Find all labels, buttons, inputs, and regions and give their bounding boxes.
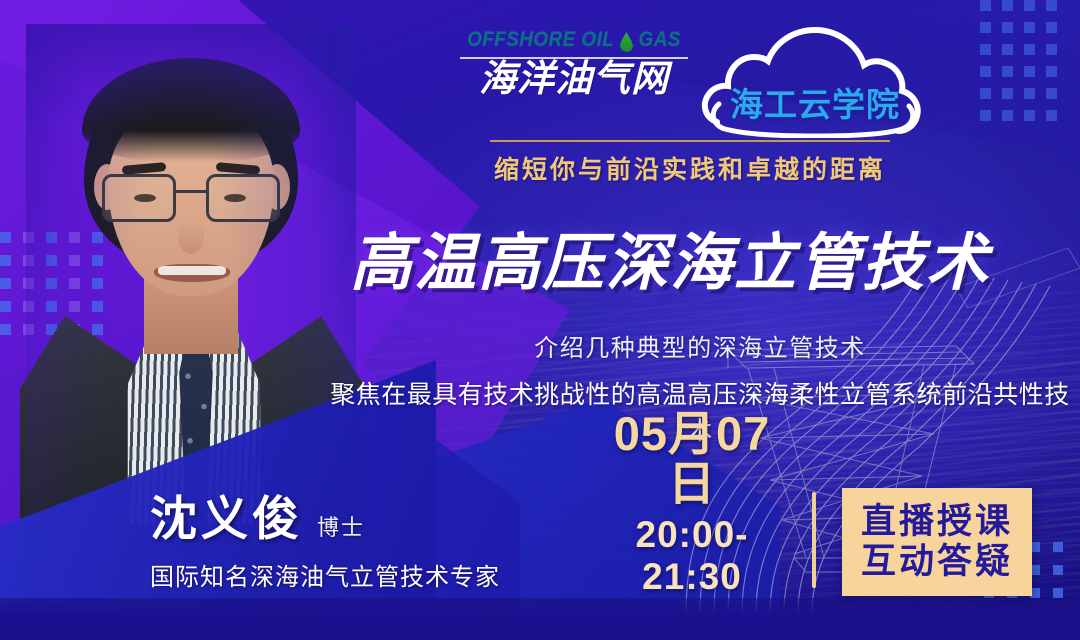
portrait-nose xyxy=(178,220,204,254)
tagline-divider-rule xyxy=(490,140,890,142)
speaker-description: 国际知名深海油气立管技术专家 xyxy=(150,557,570,592)
brand-english-name: OFFSHORE OIL GAS xyxy=(467,28,681,52)
portrait-glasses xyxy=(102,174,280,226)
background-bottom-band xyxy=(0,598,1080,640)
cta-line-2: 互动答疑 xyxy=(861,542,1013,582)
speaker-info: 沈义俊 博士 国际知名深海油气立管技术专家 xyxy=(150,480,570,592)
subtitle-line-1: 介绍几种典型的深海立管技术 xyxy=(350,328,1050,363)
brand-logo-primary: OFFSHORE OIL GAS 海洋油气网 xyxy=(455,28,693,100)
portrait-lens-left xyxy=(102,174,176,222)
dot-grid-top-right xyxy=(980,0,1080,108)
live-class-badge[interactable]: 直播授课 互动答疑 xyxy=(842,488,1032,596)
brand-english-right: GAS xyxy=(639,28,681,52)
schedule-block: 05月07日 20:00-21:30 xyxy=(592,409,792,598)
schedule-cta-divider xyxy=(812,492,816,588)
brand-chinese-name: 海洋油气网 xyxy=(455,61,693,100)
tagline-block: 缩短你与前沿实践和卓越的距离 xyxy=(455,140,925,186)
tagline-text: 缩短你与前沿实践和卓越的距离 xyxy=(455,150,925,186)
speaker-name-row: 沈义俊 博士 xyxy=(150,480,570,549)
portrait-glasses-bridge xyxy=(176,190,206,193)
page-title: 高温高压深海立管技术 xyxy=(350,232,1050,295)
portrait-lens-right xyxy=(206,174,280,222)
schedule-time: 20:00-21:30 xyxy=(592,514,792,598)
academy-name: 海工云学院 xyxy=(699,78,931,126)
academy-cloud-badge: 海工云学院 xyxy=(699,26,931,138)
brand-logo-block: OFFSHORE OIL GAS 海洋油气网 海工云学院 xyxy=(455,28,925,144)
brand-english-left: OFFSHORE OIL xyxy=(467,28,614,52)
portrait-mouth xyxy=(154,264,230,282)
cta-line-1: 直播授课 xyxy=(861,502,1013,542)
speaker-name: 沈义俊 xyxy=(150,480,303,549)
oil-drop-icon xyxy=(620,32,634,52)
webinar-poster: OFFSHORE OIL GAS 海洋油气网 海工云学院 缩短你与前沿实践和卓越… xyxy=(0,0,1080,640)
portrait-fringe xyxy=(82,58,300,162)
speaker-degree: 博士 xyxy=(317,510,365,549)
schedule-date: 05月07日 xyxy=(592,409,792,508)
portrait-teeth xyxy=(158,266,226,275)
